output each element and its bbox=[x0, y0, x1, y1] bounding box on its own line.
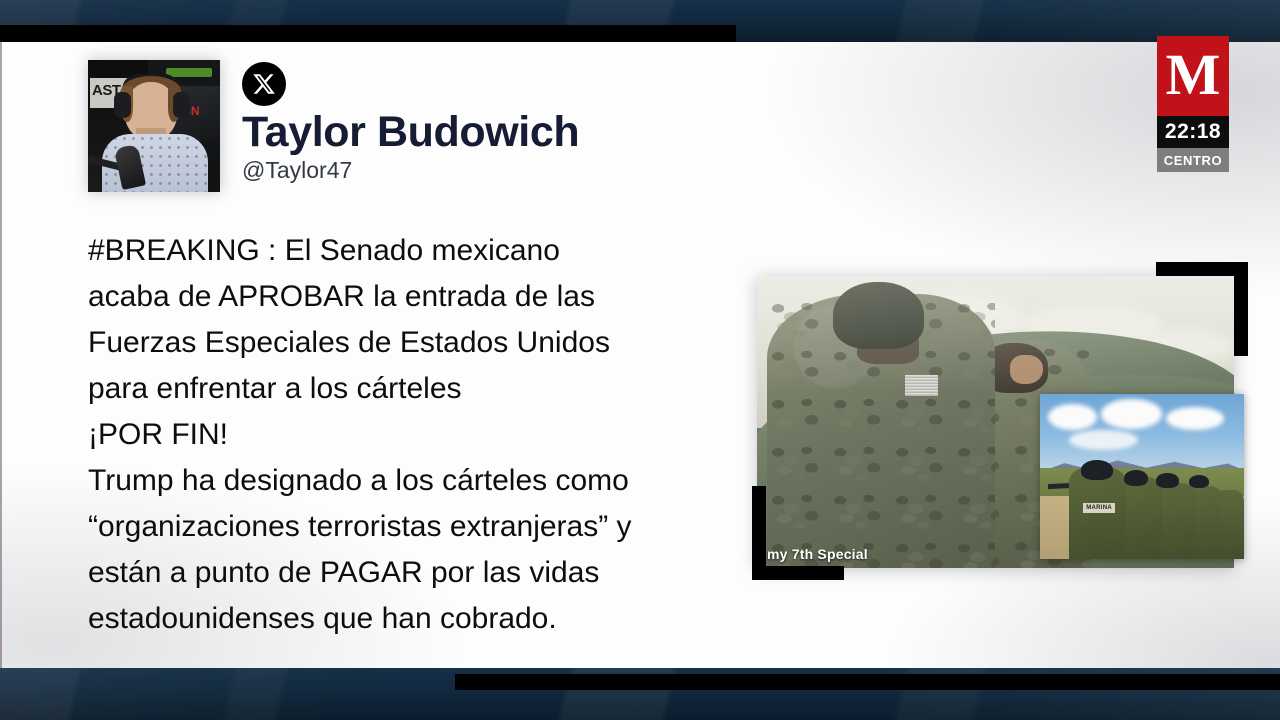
inset-cloud bbox=[1069, 430, 1138, 450]
clock-timezone: CENTRO bbox=[1157, 148, 1229, 172]
tweet-line: estadounidenses que han cobrado. bbox=[88, 596, 748, 642]
corner-bracket-top-right-vertical bbox=[1234, 262, 1248, 356]
photo-caption: my 7th Special bbox=[757, 542, 878, 568]
inset-cloud bbox=[1166, 407, 1223, 430]
tweet-identity: Taylor Budowich @Taylor47 bbox=[242, 62, 579, 183]
clock-time: 22:18 bbox=[1157, 116, 1229, 148]
tweet-display-name: Taylor Budowich bbox=[242, 110, 579, 155]
tweet-line: Fuerzas Especiales de Estados Unidos bbox=[88, 320, 748, 366]
avatar: AST ISSN bbox=[88, 60, 220, 192]
x-logo-icon bbox=[242, 62, 286, 106]
corner-bracket-bottom-left-vertical bbox=[752, 486, 766, 580]
avatar-photo: AST ISSN bbox=[88, 60, 220, 192]
bottom-black-accent-bar bbox=[455, 674, 1280, 690]
tweet-line: ¡POR FIN! bbox=[88, 412, 748, 458]
tweet-handle: @Taylor47 bbox=[242, 158, 579, 183]
us-flag-patch-icon bbox=[905, 375, 938, 395]
inset-helmet bbox=[1081, 460, 1114, 480]
inset-helmet bbox=[1156, 473, 1178, 488]
tweet-text: #BREAKING : El Senado mexicano acaba de … bbox=[88, 228, 748, 642]
inset-cloud bbox=[1101, 399, 1162, 429]
inset-vest-label: MARINA bbox=[1083, 503, 1116, 513]
inset-helmet bbox=[1124, 470, 1148, 487]
tweet-line: “organizaciones terroristas extranjeras”… bbox=[88, 504, 748, 550]
network-logo-block: M 22:18 CENTRO bbox=[1157, 36, 1229, 172]
avatar-headphone-left bbox=[114, 92, 131, 118]
photo-soldier-secondary-face bbox=[1010, 355, 1043, 384]
tweet-line: acaba de APROBAR la entrada de las bbox=[88, 274, 748, 320]
tweet-line: están a punto de PAGAR por las vidas bbox=[88, 550, 748, 596]
inset-helmet bbox=[1189, 475, 1209, 488]
tweet-line: Trump ha designado a los cárteles como bbox=[88, 458, 748, 504]
inset-marine bbox=[1069, 467, 1126, 559]
photo-soldier-primary-head bbox=[833, 282, 924, 349]
broadcast-lower-third-screen: AST ISSN bbox=[0, 0, 1280, 720]
top-black-accent-bar bbox=[0, 25, 736, 42]
media-block: my 7th Special bbox=[752, 262, 1248, 580]
content-panel: AST ISSN bbox=[0, 42, 1280, 668]
avatar-headphone-right bbox=[173, 92, 190, 118]
avatar-green-light bbox=[166, 68, 212, 77]
logo-letter: M bbox=[1166, 46, 1221, 104]
tweet-line: para enfrentar a los cárteles bbox=[88, 366, 748, 412]
inset-photo: MARINA bbox=[1040, 394, 1244, 559]
milenio-logo-icon: M bbox=[1157, 36, 1229, 116]
tweet-line: #BREAKING : El Senado mexicano bbox=[88, 228, 748, 274]
